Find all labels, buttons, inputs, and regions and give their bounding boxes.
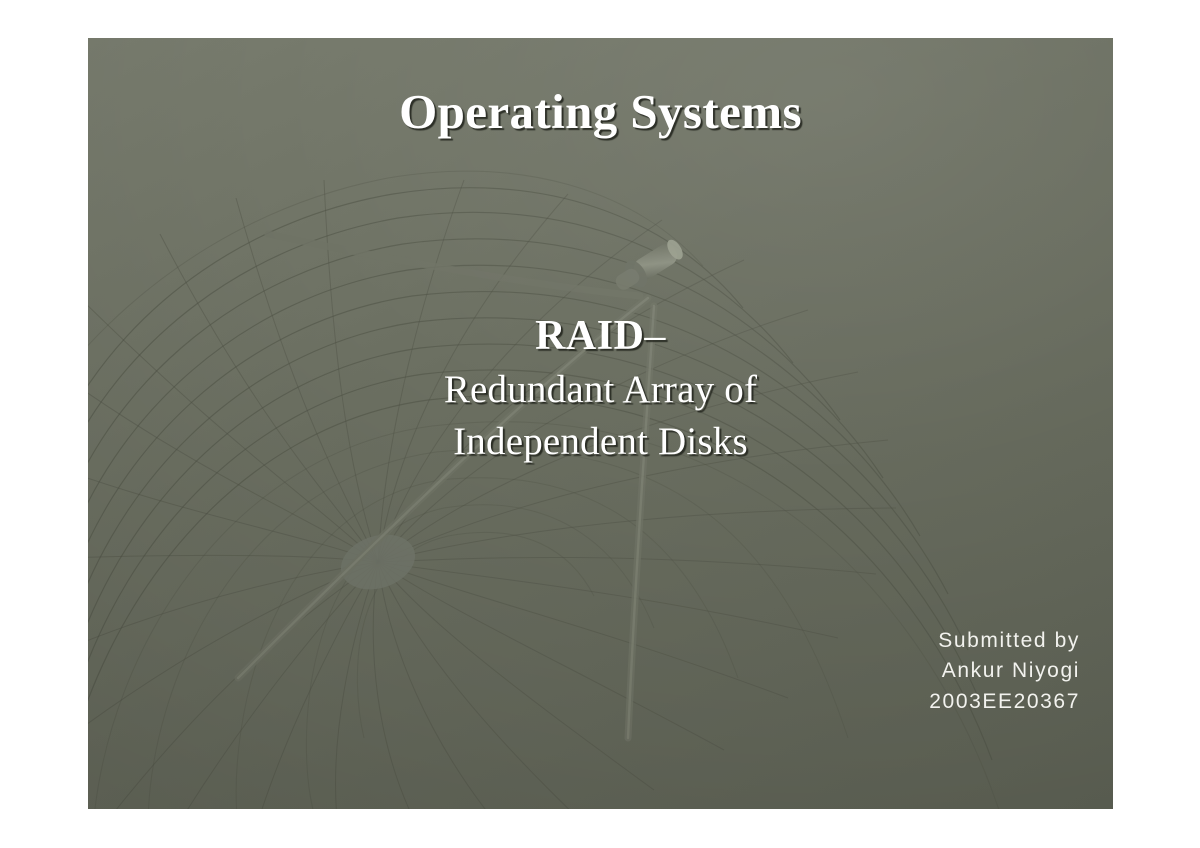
credit-author: Ankur Niyogi xyxy=(929,656,1080,686)
dish-mesh-group xyxy=(88,171,1000,809)
title-slide: Operating Systems RAID– Redundant Array … xyxy=(88,38,1113,809)
subtitle-line-expansion-2: Independent Disks xyxy=(88,416,1113,468)
dish-feed-horn xyxy=(609,234,688,299)
slide-subtitle: RAID– Redundant Array of Independent Dis… xyxy=(88,310,1113,467)
credit-label: Submitted by xyxy=(929,626,1080,656)
page-title: Operating Systems xyxy=(88,86,1113,137)
credit-roll-number: 2003EE20367 xyxy=(929,687,1080,717)
subtitle-line-raid: RAID– xyxy=(88,310,1113,364)
dish-rings xyxy=(88,171,1000,809)
subtitle-dash: – xyxy=(644,313,666,359)
subtitle-line-expansion-1: Redundant Array of xyxy=(88,364,1113,416)
subtitle-acronym: RAID xyxy=(535,313,644,359)
slide-page: Operating Systems RAID– Redundant Array … xyxy=(0,0,1200,848)
credit-block: Submitted by Ankur Niyogi 2003EE20367 xyxy=(929,626,1080,717)
